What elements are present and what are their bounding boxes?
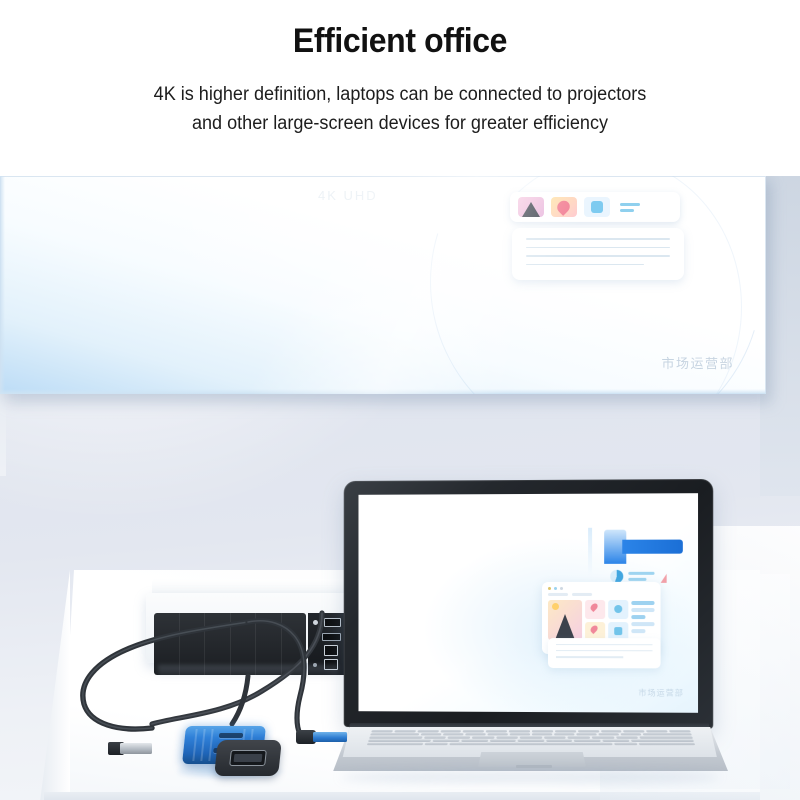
- key[interactable]: [425, 743, 449, 745]
- key[interactable]: [544, 736, 566, 738]
- adapter-ridge: [192, 729, 197, 761]
- key[interactable]: [621, 733, 642, 735]
- laptop-keyboard[interactable]: [361, 730, 702, 745]
- subtitle-line-1: 4K is higher definition, laptops can be …: [77, 80, 723, 109]
- key[interactable]: [421, 733, 442, 735]
- photo-scene: 4K UHD 市场运营部: [0, 176, 800, 800]
- usb-a-plug: [108, 742, 152, 756]
- window-content: [548, 600, 655, 640]
- key[interactable]: [576, 733, 596, 735]
- chart-label-line: [628, 578, 646, 581]
- key[interactable]: [371, 730, 393, 732]
- heart-icon: [589, 602, 599, 612]
- key[interactable]: [394, 730, 416, 732]
- key[interactable]: [640, 736, 693, 738]
- illustration-document-card: [548, 638, 661, 668]
- laptop-contact-shadow: [340, 770, 720, 784]
- chart-label-line: [628, 572, 654, 575]
- key[interactable]: [370, 733, 419, 735]
- projector-reflection: [158, 665, 338, 681]
- key[interactable]: [496, 736, 518, 738]
- window-dot-icon: [548, 587, 551, 590]
- keyboard-row[interactable]: [363, 736, 699, 738]
- adapter-ridge: [208, 729, 213, 761]
- window-tabs: [548, 593, 655, 596]
- projection-screen: 4K UHD 市场运营部: [0, 176, 766, 394]
- key[interactable]: [510, 733, 530, 735]
- key[interactable]: [614, 743, 638, 745]
- text-line: [631, 629, 645, 633]
- page-subtitle: 4K is higher definition, laptops can be …: [77, 80, 723, 138]
- usb-plug-connector: [313, 732, 347, 742]
- text-line: [631, 601, 654, 605]
- laptop-department-label: 市场运营部: [638, 687, 683, 698]
- power-indicator-icon: [313, 620, 318, 625]
- key[interactable]: [433, 740, 460, 742]
- window-dot-icon: [560, 587, 563, 590]
- laptop-slide-illustration: [542, 529, 693, 660]
- keyboard-row[interactable]: [362, 740, 700, 742]
- key[interactable]: [490, 740, 516, 742]
- product-feature-image: Efficient office 4K is higher definition…: [0, 0, 800, 800]
- key[interactable]: [509, 730, 530, 732]
- blue-shape-horizontal: [622, 540, 683, 554]
- square-icon: [614, 627, 622, 635]
- key[interactable]: [669, 730, 691, 732]
- key[interactable]: [568, 736, 590, 738]
- key[interactable]: [472, 736, 494, 738]
- key[interactable]: [578, 730, 599, 732]
- key[interactable]: [440, 730, 461, 732]
- key[interactable]: [488, 733, 508, 735]
- key[interactable]: [448, 736, 470, 738]
- laptop-screen: 市场运营部: [358, 493, 698, 713]
- desk-left-bevel: [40, 570, 70, 800]
- trackpad-button[interactable]: [516, 765, 552, 768]
- tab-placeholder: [572, 593, 592, 596]
- key[interactable]: [602, 740, 629, 742]
- keyboard-row[interactable]: [365, 730, 697, 732]
- content-small-cards: [585, 600, 605, 640]
- key[interactable]: [465, 733, 485, 735]
- key[interactable]: [369, 736, 422, 738]
- content-shape-cards: [608, 600, 628, 640]
- document-line: [556, 656, 623, 657]
- key[interactable]: [520, 736, 542, 738]
- projection-screen-sheen: [0, 176, 766, 394]
- text-line: [631, 615, 645, 619]
- usb-plug-connector: [120, 743, 152, 754]
- key[interactable]: [574, 740, 600, 742]
- document-line: [556, 644, 653, 645]
- key[interactable]: [463, 730, 484, 732]
- key[interactable]: [546, 740, 572, 742]
- adapter-ridge: [200, 729, 205, 761]
- text-line: [631, 622, 654, 626]
- key[interactable]: [461, 740, 487, 742]
- key[interactable]: [367, 743, 423, 745]
- content-image-card: [548, 600, 582, 640]
- key[interactable]: [646, 730, 668, 732]
- content-card: [585, 600, 605, 619]
- key[interactable]: [601, 730, 622, 732]
- key[interactable]: [623, 730, 644, 732]
- window-dot-icon: [554, 587, 557, 590]
- key[interactable]: [592, 736, 614, 738]
- key[interactable]: [424, 736, 446, 738]
- key[interactable]: [532, 730, 553, 732]
- key[interactable]: [486, 730, 507, 732]
- text-line: [631, 608, 654, 612]
- laptop-device: 市场运营部: [330, 480, 740, 780]
- usb-c-plug-laptop: [296, 730, 346, 744]
- spacebar-key[interactable]: [450, 743, 612, 745]
- page-title: Efficient office: [24, 22, 776, 61]
- mountain-icon: [555, 614, 575, 640]
- projector-device: [146, 579, 352, 665]
- sun-icon: [552, 603, 559, 610]
- circle-icon: [614, 605, 622, 613]
- illustration-blue-shape: [604, 529, 683, 563]
- hdmi-port-icon: [229, 750, 267, 766]
- content-text-column: [631, 600, 654, 640]
- key[interactable]: [554, 733, 574, 735]
- keyboard-row[interactable]: [364, 733, 698, 735]
- key[interactable]: [368, 740, 431, 742]
- key[interactable]: [616, 736, 638, 738]
- laptop-lid: 市场运营部: [344, 479, 714, 729]
- video-adapter-dongle: [178, 722, 298, 780]
- tab-placeholder: [548, 593, 568, 596]
- heart-icon: [589, 624, 599, 634]
- key[interactable]: [555, 730, 576, 732]
- header-section: Efficient office 4K is higher definition…: [0, 0, 800, 176]
- bar-chart-icon: [661, 574, 667, 583]
- projector-body: [146, 593, 348, 663]
- key[interactable]: [598, 733, 619, 735]
- key[interactable]: [631, 740, 694, 742]
- document-line: [556, 650, 653, 651]
- content-card: [608, 600, 628, 619]
- key[interactable]: [532, 733, 552, 735]
- window-controls: [548, 587, 655, 590]
- subtitle-line-2: and other large-screen devices for great…: [77, 109, 723, 138]
- illustration-vertical-bar: [588, 528, 592, 576]
- key[interactable]: [518, 740, 544, 742]
- key[interactable]: [643, 733, 692, 735]
- keyboard-row[interactable]: [361, 743, 702, 745]
- adapter-slot-icon: [219, 733, 244, 738]
- key[interactable]: [639, 743, 695, 745]
- key[interactable]: [417, 730, 438, 732]
- key[interactable]: [443, 733, 464, 735]
- adapter-port-face: [214, 740, 282, 776]
